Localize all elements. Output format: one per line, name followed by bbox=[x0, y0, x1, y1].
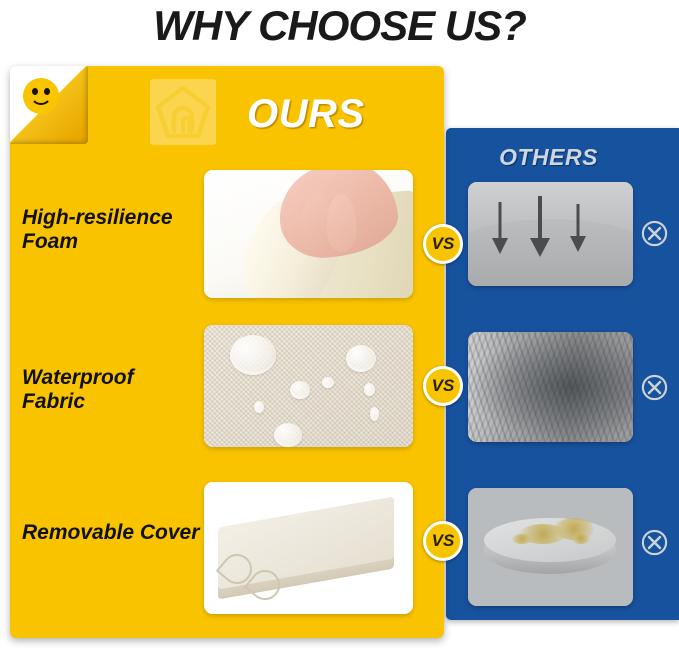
feature-label-2: Waterproof Fabric bbox=[22, 366, 202, 414]
smiley-face-icon bbox=[23, 78, 59, 114]
home-pentagon-icon bbox=[150, 79, 216, 145]
smiley-mouth bbox=[30, 92, 52, 105]
feature-label-3: Removable Cover bbox=[22, 521, 202, 545]
vs-badge-1: VS bbox=[423, 224, 463, 264]
vs-badge-3: VS bbox=[423, 521, 463, 561]
others-heading: OTHERS bbox=[446, 144, 651, 171]
ours-image-1 bbox=[204, 170, 413, 298]
circle-x-icon-2 bbox=[641, 374, 668, 401]
vs-badge-2: VS bbox=[423, 366, 463, 406]
ours-image-2 bbox=[204, 325, 413, 447]
ours-image-3 bbox=[204, 482, 413, 614]
others-image-1 bbox=[468, 182, 633, 286]
feature-label-1: High-resilience Foam bbox=[22, 206, 202, 254]
others-image-2 bbox=[468, 332, 633, 442]
page-title: WHY CHOOSE US? bbox=[0, 0, 679, 52]
others-image-3 bbox=[468, 488, 633, 606]
circle-x-icon-3 bbox=[641, 529, 668, 556]
circle-x-icon-1 bbox=[641, 220, 668, 247]
ours-heading: OURS bbox=[247, 92, 365, 137]
